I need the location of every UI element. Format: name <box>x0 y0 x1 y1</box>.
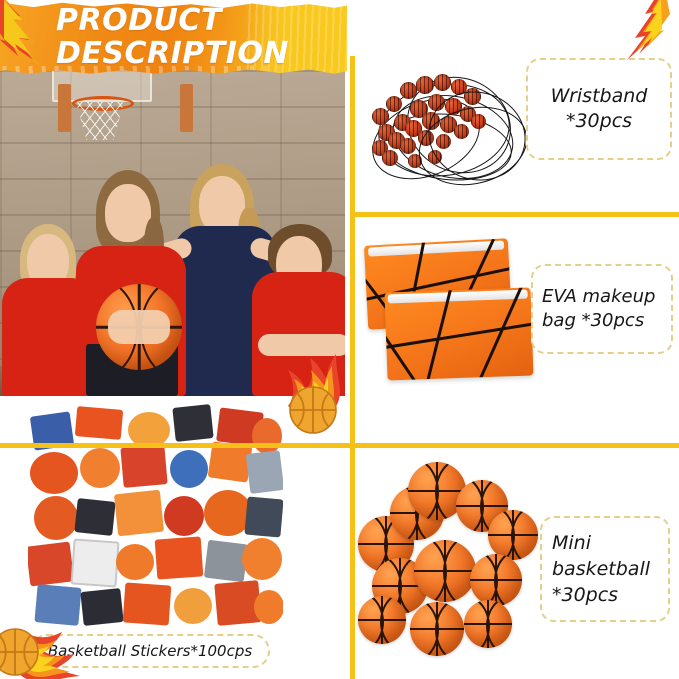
sticker <box>174 588 212 624</box>
mini-seam-arc <box>486 600 512 648</box>
sticker <box>172 404 213 442</box>
eva-bag-caption-box: EVA makeup bag *30pcs <box>531 264 673 354</box>
sticker <box>246 450 283 494</box>
sticker <box>116 544 154 580</box>
sticker <box>80 588 123 626</box>
sticker <box>74 498 115 536</box>
mini-basketball <box>410 602 464 656</box>
sticker <box>120 444 167 488</box>
eva-bag-seam <box>476 287 523 380</box>
mini-basketball <box>488 510 538 560</box>
eva-bag-seam <box>385 320 534 350</box>
eva-bag-front <box>385 287 534 380</box>
mini-basketball <box>414 540 476 602</box>
sticker <box>254 590 283 624</box>
mini-seam-arc <box>494 554 522 606</box>
sticker <box>155 536 204 579</box>
wristband-bead <box>372 108 389 125</box>
sticker <box>164 496 204 536</box>
sticker <box>30 452 78 494</box>
sticker <box>114 490 164 537</box>
sticker <box>70 538 119 587</box>
divider-vertical <box>350 56 355 679</box>
sticker <box>244 497 283 538</box>
mini-basketball <box>358 596 406 644</box>
eva-bag-zipper <box>388 290 528 304</box>
wristband-bead <box>382 150 398 166</box>
sticker <box>80 448 120 488</box>
mini-seam-arc <box>380 596 406 644</box>
eva-bag-caption-text: EVA makeup bag *30pcs <box>542 285 662 333</box>
mini-basketball <box>464 600 512 648</box>
flame-streak-top-left-icon <box>0 0 58 72</box>
wristband-bead <box>386 96 402 112</box>
flaming-basketball-center-icon <box>274 352 356 436</box>
flame-streak-top-right-icon <box>615 0 673 62</box>
sticker <box>242 538 282 580</box>
wristband-bead <box>434 74 451 91</box>
divider-horizontal-top <box>355 212 679 217</box>
flaming-basketball-bottom-left-icon <box>0 612 82 679</box>
sticker <box>75 406 123 440</box>
wristband-bead <box>400 82 417 99</box>
divider-horizontal-bottom <box>355 443 679 448</box>
hands-on-basketball <box>108 310 170 344</box>
wall-pad-right <box>180 84 193 132</box>
mini-basketball-caption-text: Mini basketball *30pcs <box>552 530 658 608</box>
product-description-infographic: PRODUCT DESCRIPTION <box>0 0 679 679</box>
divider-horizontal-left <box>0 443 352 448</box>
wristband-bead <box>400 138 416 154</box>
sticker <box>123 582 172 625</box>
wall-pad-left <box>58 84 71 132</box>
page-title: PRODUCT DESCRIPTION <box>56 4 356 70</box>
wristband-caption-text: Wristband *30pcs <box>538 84 660 134</box>
mini-basketball <box>470 554 522 606</box>
sticker <box>170 450 208 488</box>
mini-seam-arc <box>511 510 538 560</box>
sticker <box>34 496 78 540</box>
hero-photo <box>0 56 345 396</box>
mini-basketball-product-image <box>352 462 542 642</box>
sticker <box>28 541 74 586</box>
wristband-bead <box>416 76 434 94</box>
wristband-caption-box: Wristband *30pcs <box>526 58 672 160</box>
sticker-collage-image <box>28 404 283 626</box>
mini-seam-arc <box>435 602 464 656</box>
wristband-product-image <box>358 62 528 202</box>
eva-bag-product-image <box>360 234 536 394</box>
mini-basketball-caption-box: Mini basketball *30pcs <box>540 516 670 622</box>
